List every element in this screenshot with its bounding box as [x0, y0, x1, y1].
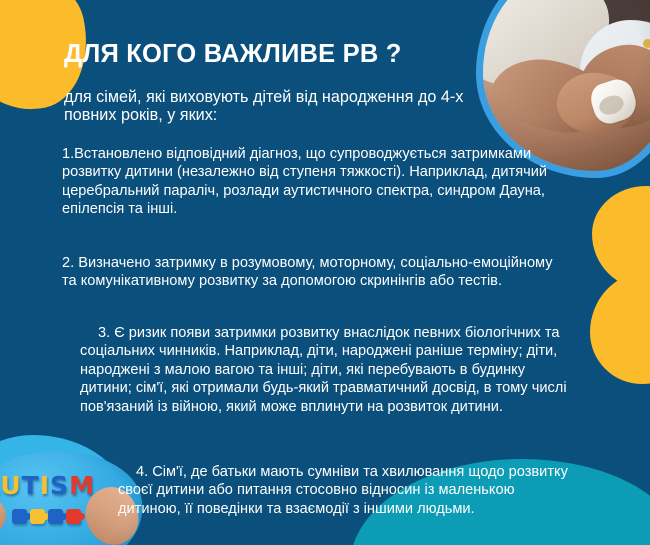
- paragraph-2: 2. Визначено затримку в розумовому, мото…: [62, 254, 562, 291]
- paragraph-3: 3. Є ризик появи затримки розвитку внасл…: [80, 324, 580, 417]
- paragraph-4: 4. Сім'ї, де батьки мають сумніви та хви…: [118, 463, 580, 519]
- poster-subtitle: для сімей, які виховують дітей від народ…: [64, 88, 484, 124]
- poster-title: ДЛЯ КОГО ВАЖЛИВЕ РВ ?: [64, 41, 504, 69]
- poster-canvas: A U T I S M ДЛЯ КОГО ВАЖЛИВЕ РВ ? для сі…: [0, 0, 650, 545]
- paragraph-1: 1.Встановлено відповідний діагноз, що су…: [62, 145, 582, 219]
- poster-content: ДЛЯ КОГО ВАЖЛИВЕ РВ ? для сімей, які вих…: [0, 0, 650, 545]
